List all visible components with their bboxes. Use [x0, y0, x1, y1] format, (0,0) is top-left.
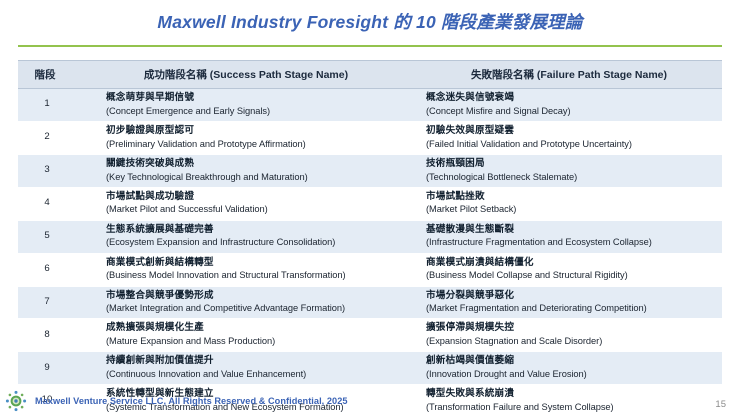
failure-stage-name-zh: 技術瓶頸困局 [426, 158, 716, 171]
failure-stage-name-zh: 商業模式崩潰與結構僵化 [426, 257, 716, 270]
success-stage-name-zh: 初步驗證與原型認可 [106, 125, 410, 138]
table-header: 階段 成功階段名稱 (Success Path Stage Name) 失敗階段… [18, 61, 722, 89]
failure-stage-name-zh: 市場試點挫敗 [426, 191, 716, 204]
failure-stage-name-zh: 市場分裂與競爭惡化 [426, 290, 716, 303]
success-stage-name-en: (Market Integration and Competitive Adva… [106, 302, 410, 314]
success-stage-cell: 概念萌芽與早期信號 (Concept Emergence and Early S… [76, 89, 416, 122]
success-stage-name-en: (Business Model Innovation and Structura… [106, 269, 410, 281]
success-stage-cell: 市場試點與成功驗證 (Market Pilot and Successful V… [76, 187, 416, 220]
failure-stage-name-zh: 擴張停滯與規模失控 [426, 322, 716, 335]
slide-header: Maxwell Industry Foresight 的 10 階段產業發展理論 [0, 0, 740, 39]
success-stage-name-en: (Concept Emergence and Early Signals) [106, 105, 410, 117]
stage-number: 7 [18, 286, 76, 319]
success-stage-name-zh: 市場試點與成功驗證 [106, 191, 410, 204]
success-stage-cell: 市場整合與競爭優勢形成 (Market Integration and Comp… [76, 286, 416, 319]
success-stage-cell: 生態系統擴展與基礎完善 (Ecosystem Expansion and Inf… [76, 220, 416, 253]
failure-stage-name-zh: 創新枯竭與價值萎縮 [426, 355, 716, 368]
stage-number: 8 [18, 319, 76, 352]
failure-stage-name-en: (Concept Misfire and Signal Decay) [426, 105, 716, 117]
failure-stage-name-en: (Market Fragmentation and Deteriorating … [426, 302, 716, 314]
stage-number: 4 [18, 187, 76, 220]
maxwell-logo-icon [5, 390, 27, 412]
table-row: 9 持續創新與附加價值提升 (Continuous Innovation and… [18, 352, 722, 385]
success-stage-name-en: (Preliminary Validation and Prototype Af… [106, 138, 410, 150]
success-stage-cell: 持續創新與附加價值提升 (Continuous Innovation and V… [76, 352, 416, 385]
success-stage-name-zh: 商業模式創新與結構轉型 [106, 257, 410, 270]
failure-stage-cell: 創新枯竭與價值萎縮 (Innovation Drought and Value … [416, 352, 722, 385]
failure-stage-name-en: (Expansion Stagnation and Scale Disorder… [426, 335, 716, 347]
stage-number: 6 [18, 253, 76, 286]
success-stage-name-en: (Continuous Innovation and Value Enhance… [106, 368, 410, 380]
page-number: 15 [715, 399, 726, 410]
column-header-stage: 階段 [18, 61, 76, 89]
failure-stage-cell: 商業模式崩潰與結構僵化 (Business Model Collapse and… [416, 253, 722, 286]
success-stage-name-en: (Market Pilot and Successful Validation) [106, 203, 410, 215]
table-row: 8 成熟擴張與規模化生產 (Mature Expansion and Mass … [18, 319, 722, 352]
table-row: 7 市場整合與競爭優勢形成 (Market Integration and Co… [18, 286, 722, 319]
column-header-success-path: 成功階段名稱 (Success Path Stage Name) [76, 61, 416, 89]
success-stage-name-zh: 生態系統擴展與基礎完善 [106, 224, 410, 237]
success-stage-cell: 關鍵技術突破與成熟 (Key Technological Breakthroug… [76, 154, 416, 187]
failure-stage-name-en: (Business Model Collapse and Structural … [426, 269, 716, 281]
page-title: Maxwell Industry Foresight 的 10 階段產業發展理論 [0, 12, 740, 33]
failure-stage-name-zh: 初驗失效與原型疑雲 [426, 125, 716, 138]
failure-stage-cell: 擴張停滯與規模失控 (Expansion Stagnation and Scal… [416, 319, 722, 352]
success-stage-cell: 商業模式創新與結構轉型 (Business Model Innovation a… [76, 253, 416, 286]
title-divider [18, 45, 722, 47]
failure-stage-name-en: (Failed Initial Validation and Prototype… [426, 138, 716, 150]
success-stage-name-en: (Ecosystem Expansion and Infrastructure … [106, 236, 410, 248]
table-row: 1 概念萌芽與早期信號 (Concept Emergence and Early… [18, 89, 722, 122]
table-row: 3 關鍵技術突破與成熟 (Key Technological Breakthro… [18, 154, 722, 187]
failure-stage-name-en: (Market Pilot Setback) [426, 203, 716, 215]
success-stage-name-zh: 市場整合與競爭優勢形成 [106, 290, 410, 303]
failure-stage-cell: 市場試點挫敗 (Market Pilot Setback) [416, 187, 722, 220]
failure-stage-name-en: (Infrastructure Fragmentation and Ecosys… [426, 236, 716, 248]
failure-stage-cell: 基礎散漫與生態斷裂 (Infrastructure Fragmentation … [416, 220, 722, 253]
stage-table-container: 階段 成功階段名稱 (Success Path Stage Name) 失敗階段… [18, 60, 722, 416]
stage-number: 3 [18, 154, 76, 187]
stage-number: 9 [18, 352, 76, 385]
table-row: 5 生態系統擴展與基礎完善 (Ecosystem Expansion and I… [18, 220, 722, 253]
table-header-row: 階段 成功階段名稱 (Success Path Stage Name) 失敗階段… [18, 61, 722, 89]
slide-footer: Maxwell Venture Service LLC, All Rights … [0, 386, 740, 416]
stage-table: 階段 成功階段名稱 (Success Path Stage Name) 失敗階段… [18, 60, 722, 416]
success-stage-name-en: (Key Technological Breakthrough and Matu… [106, 171, 410, 183]
success-stage-name-en: (Mature Expansion and Mass Production) [106, 335, 410, 347]
success-stage-name-zh: 持續創新與附加價值提升 [106, 355, 410, 368]
failure-stage-cell: 市場分裂與競爭惡化 (Market Fragmentation and Dete… [416, 286, 722, 319]
stage-number: 2 [18, 121, 76, 154]
stage-number: 5 [18, 220, 76, 253]
footer-copyright: Maxwell Venture Service LLC, All Rights … [35, 396, 348, 406]
column-header-failure-path: 失敗階段名稱 (Failure Path Stage Name) [416, 61, 722, 89]
success-stage-name-zh: 關鍵技術突破與成熟 [106, 158, 410, 171]
failure-stage-name-zh: 基礎散漫與生態斷裂 [426, 224, 716, 237]
failure-stage-cell: 初驗失效與原型疑雲 (Failed Initial Validation and… [416, 121, 722, 154]
table-row: 6 商業模式創新與結構轉型 (Business Model Innovation… [18, 253, 722, 286]
success-stage-name-zh: 成熟擴張與規模化生產 [106, 322, 410, 335]
failure-stage-cell: 技術瓶頸困局 (Technological Bottleneck Stalema… [416, 154, 722, 187]
failure-stage-name-en: (Innovation Drought and Value Erosion) [426, 368, 716, 380]
table-body: 1 概念萌芽與早期信號 (Concept Emergence and Early… [18, 89, 722, 416]
success-stage-name-zh: 概念萌芽與早期信號 [106, 92, 410, 105]
stage-number: 1 [18, 89, 76, 122]
table-row: 2 初步驗證與原型認可 (Preliminary Validation and … [18, 121, 722, 154]
failure-stage-name-en: (Technological Bottleneck Stalemate) [426, 171, 716, 183]
failure-stage-cell: 概念迷失與信號衰竭 (Concept Misfire and Signal De… [416, 89, 722, 122]
success-stage-cell: 初步驗證與原型認可 (Preliminary Validation and Pr… [76, 121, 416, 154]
success-stage-cell: 成熟擴張與規模化生產 (Mature Expansion and Mass Pr… [76, 319, 416, 352]
table-row: 4 市場試點與成功驗證 (Market Pilot and Successful… [18, 187, 722, 220]
failure-stage-name-zh: 概念迷失與信號衰竭 [426, 92, 716, 105]
